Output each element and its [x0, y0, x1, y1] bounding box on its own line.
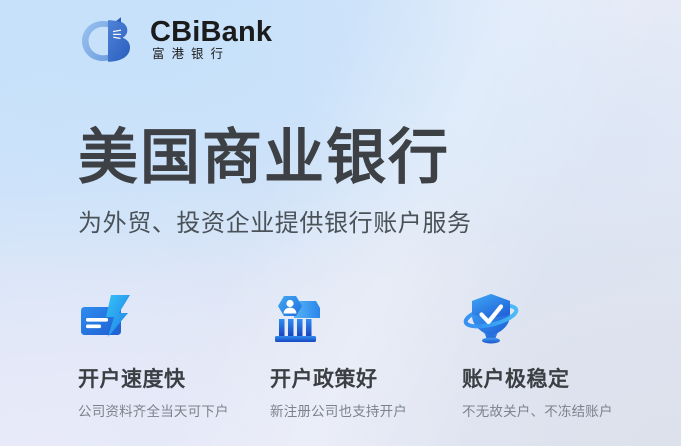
brand-name: CBiBank	[150, 18, 272, 48]
feature-item-stability: 账户极稳定 不无故关户、不冻结账户	[462, 292, 654, 420]
feature-list: 开户速度快 公司资料齐全当天可下户	[78, 292, 659, 420]
brand-wordmark: CBiBank 富港银行	[150, 18, 272, 64]
feature-item-speed: 开户速度快 公司资料齐全当天可下户	[78, 292, 270, 420]
feature-description: 不无故关户、不冻结账户	[462, 400, 654, 420]
page-subtitle: 为外贸、投资企业提供银行账户服务	[78, 203, 472, 238]
bank-building-person-icon	[270, 292, 328, 348]
card-lightning-icon	[78, 292, 136, 348]
landing-page: CBiBank 富港银行 美国商业银行 为外贸、投资企业提供银行账户服务	[0, 0, 681, 446]
feature-item-policy: 开户政策好 新注册公司也支持开户	[270, 292, 462, 420]
feature-title: 开户速度快	[78, 368, 270, 391]
feature-description: 公司资料齐全当天可下户	[78, 400, 270, 420]
brand-logo[interactable]: CBiBank 富港银行	[78, 16, 272, 66]
page-title: 美国商业银行	[78, 124, 472, 191]
feature-title: 开户政策好	[270, 368, 462, 391]
brand-chinese-name: 富港银行	[150, 48, 272, 62]
cbibank-cat-logo-icon	[78, 16, 140, 66]
feature-description: 新注册公司也支持开户	[270, 400, 462, 420]
feature-title: 账户极稳定	[462, 368, 654, 391]
hero-section: 美国商业银行 为外贸、投资企业提供银行账户服务	[78, 124, 472, 238]
shield-check-orbit-icon	[462, 292, 520, 348]
